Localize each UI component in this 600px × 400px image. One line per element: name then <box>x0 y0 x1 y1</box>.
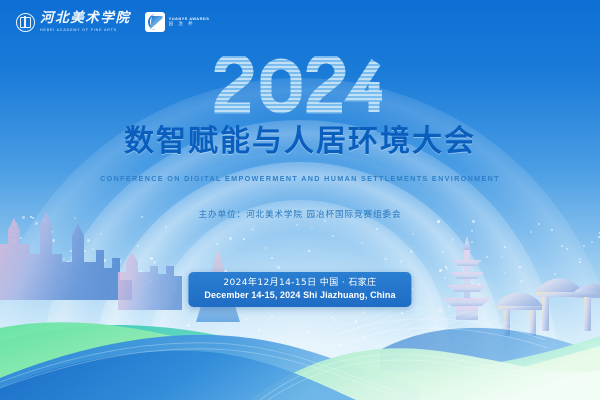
logo-hebei-name-cn: 河北美术学院 <box>40 12 131 26</box>
date-line-en: December 14-15, 2024 Shi Jiazhuang, Chin… <box>204 289 395 301</box>
logo-yuanye-name-cn: 园 冶 杯 <box>169 23 210 27</box>
logo-yuanye-name-en: YUANYE AWARDS <box>169 17 210 21</box>
year-graphic-2024 <box>0 56 600 118</box>
logo-yuanye-awards: YUANYE AWARDS 园 冶 杯 <box>145 12 210 32</box>
conference-poster: 河北美术学院 HEBEI ACADEMY OF FINE ARTS YUANYE… <box>0 0 600 400</box>
date-line-cn: 2024年12月14-15日 中国 · 石家庄 <box>204 277 395 289</box>
logo-hebei-academy: 河北美术学院 HEBEI ACADEMY OF FINE ARTS <box>16 12 131 32</box>
page-subtitle: CONFERENCE ON DIGITAL EMPOWERMENT AND HU… <box>0 174 600 183</box>
logo-hebei-name-en: HEBEI ACADEMY OF FINE ARTS <box>40 29 131 33</box>
organizer-line: 主办单位：河北美术学院 园冶杯国际竞赛组委会 <box>0 208 600 220</box>
chinese-pagoda-silhouette <box>443 236 491 320</box>
hebei-academy-seal-icon <box>16 13 35 32</box>
logo-bar: 河北美术学院 HEBEI ACADEMY OF FINE ARTS YUANYE… <box>16 12 209 32</box>
date-location-badge: 2024年12月14-15日 中国 · 石家庄 December 14-15, … <box>188 272 411 307</box>
page-title: 数智赋能与人居环境大会 <box>0 127 600 157</box>
castle-skyline-silhouette <box>0 212 182 330</box>
yuanye-awards-mark-icon <box>145 12 165 32</box>
